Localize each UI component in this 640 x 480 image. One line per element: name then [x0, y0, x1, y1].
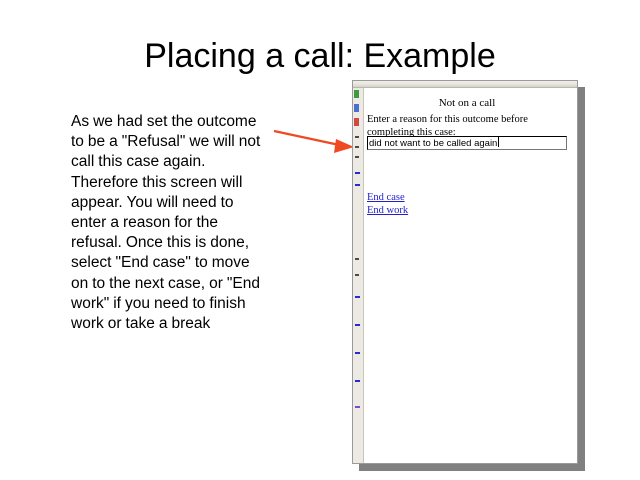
text-fragment — [355, 274, 359, 276]
browser-toolbar — [353, 81, 578, 88]
link-fragment — [355, 406, 360, 408]
link-fragment — [355, 296, 360, 298]
green-icon — [354, 90, 359, 98]
browser-window-frame: Not on a call Enter a reason for this ou… — [352, 80, 578, 464]
text-fragment — [355, 136, 359, 138]
end-case-link[interactable]: End case — [367, 192, 405, 204]
link-fragment — [355, 380, 360, 382]
slide-body-text: As we had set the outcome to be a "Refus… — [71, 112, 263, 334]
text-fragment — [355, 258, 359, 260]
clipped-sidebar — [353, 88, 364, 464]
reason-input[interactable]: did not want to be called again — [367, 136, 567, 150]
red-icon — [354, 118, 359, 126]
application-page: Not on a call Enter a reason for this ou… — [365, 89, 578, 464]
link-fragment — [355, 184, 360, 186]
page-title: Placing a call: Example — [0, 36, 640, 76]
text-fragment — [355, 146, 359, 148]
slide-canvas: Placing a call: Example As we had set th… — [0, 0, 640, 480]
embedded-screenshot: Not on a call Enter a reason for this ou… — [352, 80, 578, 464]
text-caret — [498, 137, 499, 147]
text-fragment — [355, 156, 359, 158]
blue-icon — [354, 104, 359, 112]
link-fragment — [355, 172, 360, 174]
panel-heading: Not on a call — [365, 97, 569, 110]
reason-input-value: did not want to be called again — [369, 138, 497, 149]
pointer-arrow-icon — [268, 118, 360, 158]
end-work-link[interactable]: End work — [367, 205, 408, 217]
link-fragment — [355, 352, 360, 354]
link-fragment — [355, 324, 360, 326]
